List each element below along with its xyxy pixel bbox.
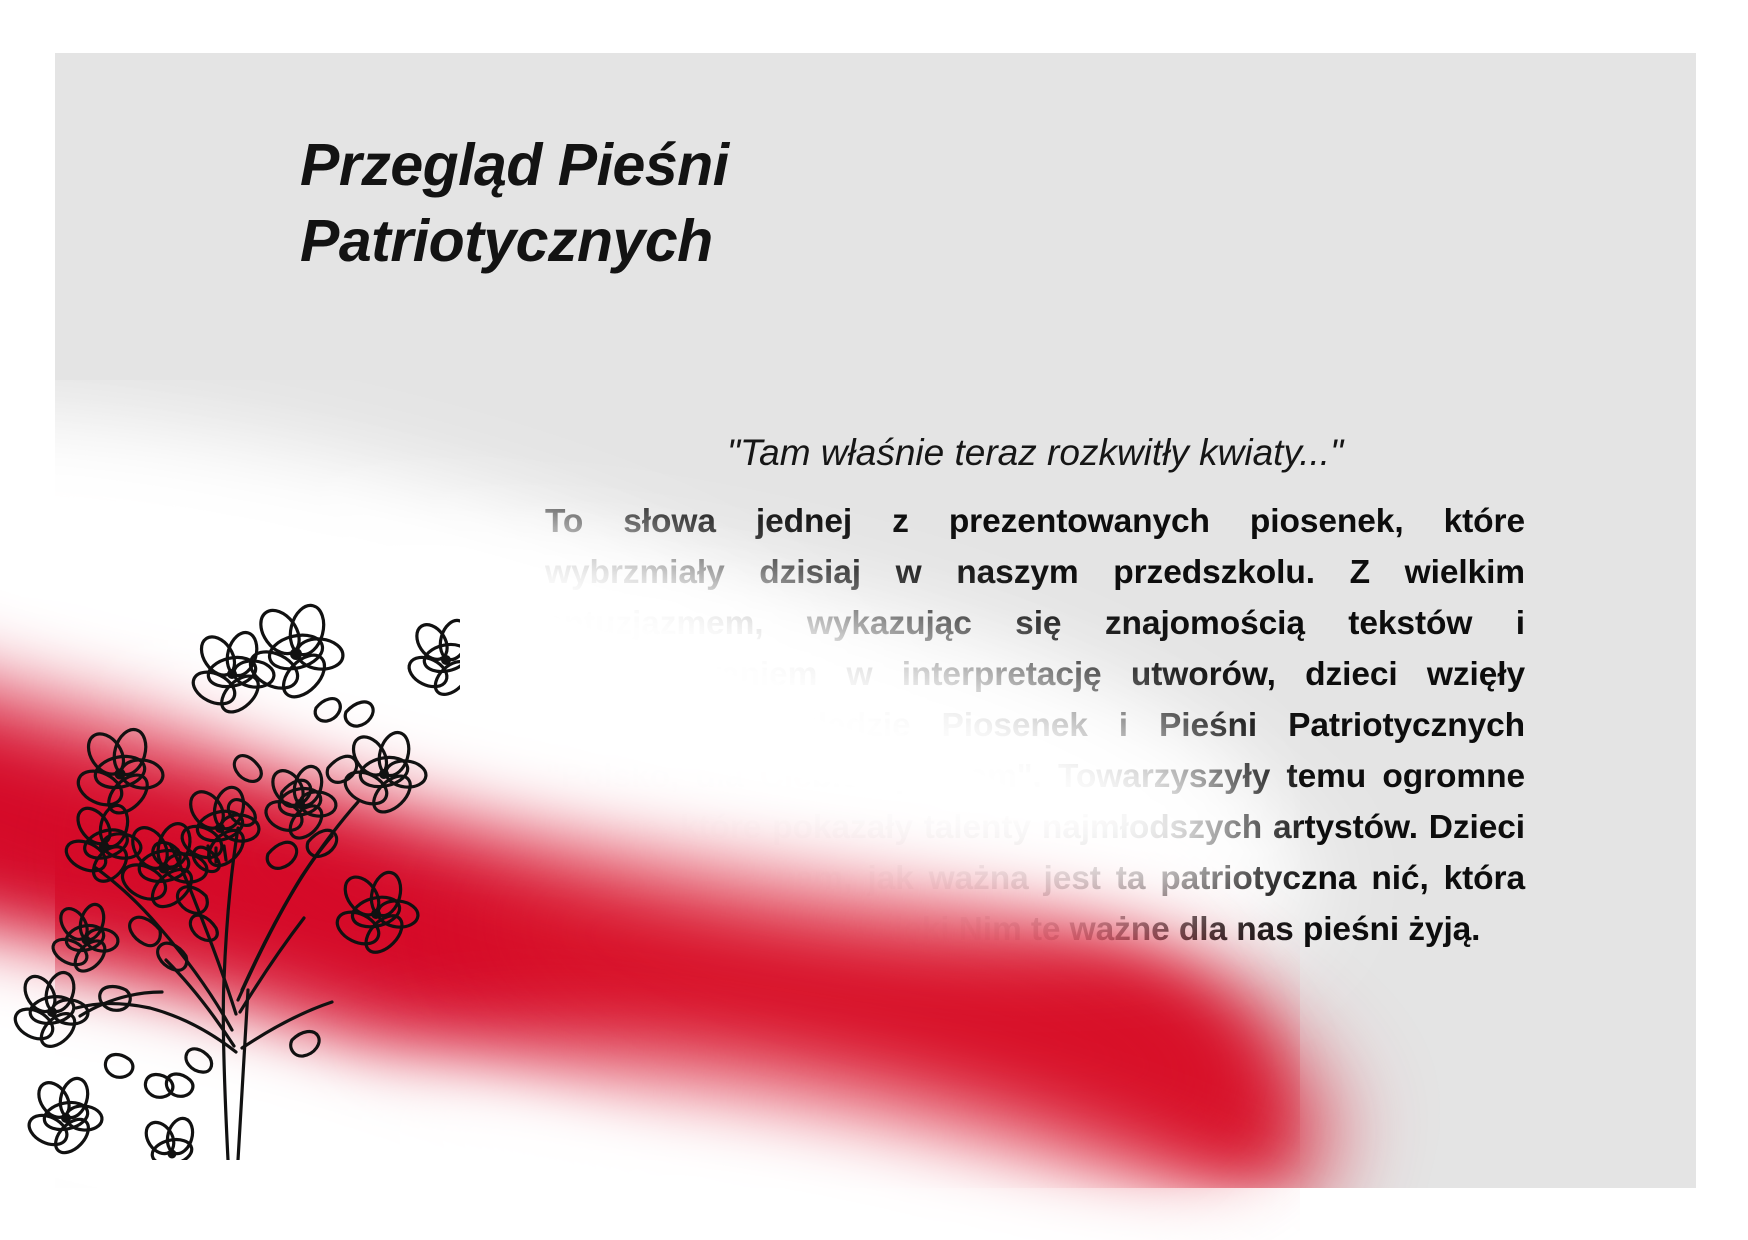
song-quote: "Tam właśnie teraz rozkwitły kwiaty..." [545,431,1525,475]
body-paragraph: To słowa jednej z prezentowanych piosene… [545,497,1525,955]
flower-doodle-icon [10,560,460,1160]
white-blob-lower-right [401,1054,1409,1188]
poster-canvas: Przegląd Pieśni Patriotycznych "Tam właś… [0,0,1748,1240]
text-column: Przegląd Pieśni Patriotycznych "Tam właś… [545,128,1525,989]
page-title: Przegląd Pieśni Patriotycznych [300,128,1000,279]
